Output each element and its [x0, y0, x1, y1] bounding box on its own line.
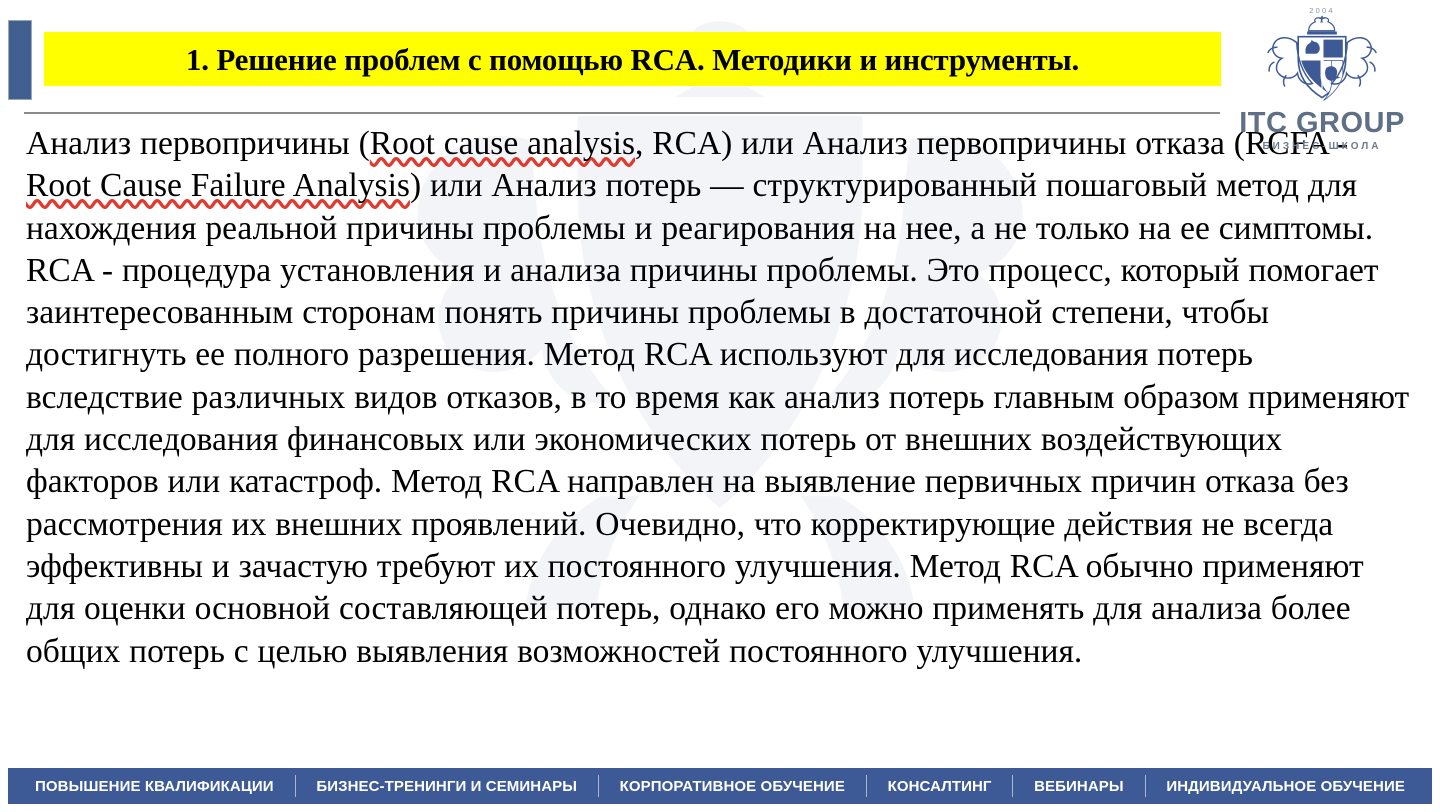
itc-group-logo: 2004 — [1224, 4, 1420, 150]
crest-icon: 2004 — [1247, 4, 1397, 108]
bottom-nav-separator — [1012, 775, 1013, 797]
body-paragraph: Анализ первопричины (Root cause analysis… — [26, 123, 1416, 673]
bottom-nav-item-4[interactable]: ВЕБИНАРЫ — [1021, 778, 1137, 795]
bottom-nav-separator — [866, 775, 867, 797]
bottom-nav-item-5[interactable]: ИНДИВИДУАЛЬНОЕ ОБУЧЕНИЕ — [1153, 778, 1418, 795]
bottom-nav-item-2[interactable]: КОРПОРАТИВНОЕ ОБУЧЕНИЕ — [607, 778, 858, 795]
header-divider — [24, 112, 1220, 114]
spellcheck-underlined-text: Root cause analysis — [370, 125, 635, 162]
bottom-nav-bar: ПОВЫШЕНИЕ КВАЛИФИКАЦИИ БИЗНЕС-ТРЕНИНГИ И… — [8, 768, 1432, 804]
spellcheck-underlined-text: Root Cause Failure Analysis — [26, 167, 410, 204]
body-text-run: ) или Анализ потерь — структурированный … — [26, 167, 1409, 669]
logo-brand-text: ITC GROUP — [1224, 109, 1420, 138]
body-text-block: Анализ первопричины (Root cause analysis… — [26, 123, 1416, 673]
logo-tagline-text: БИЗНЕС-ШКОЛА — [1224, 142, 1420, 152]
bottom-nav-item-0[interactable]: ПОВЫШЕНИЕ КВАЛИФИКАЦИИ — [22, 778, 287, 795]
svg-text:2004: 2004 — [1309, 6, 1334, 15]
bottom-nav-item-1[interactable]: БИЗНЕС-ТРЕНИНГИ И СЕМИНАРЫ — [303, 778, 590, 795]
bottom-nav-separator — [295, 775, 296, 797]
title-accent-bar — [8, 20, 32, 100]
bottom-nav-separator — [598, 775, 599, 797]
title-highlight-band: 1. Решение проблем с помощью RCA. Методи… — [44, 32, 1221, 86]
body-text-run: Анализ первопричины ( — [26, 125, 370, 162]
bottom-nav-separator — [1145, 775, 1146, 797]
slide: 1. Решение проблем с помощью RCA. Методи… — [0, 0, 1440, 812]
bottom-nav-item-3[interactable]: КОНСАЛТИНГ — [875, 778, 1005, 795]
page-title: 1. Решение проблем с помощью RCA. Методи… — [186, 44, 1079, 75]
